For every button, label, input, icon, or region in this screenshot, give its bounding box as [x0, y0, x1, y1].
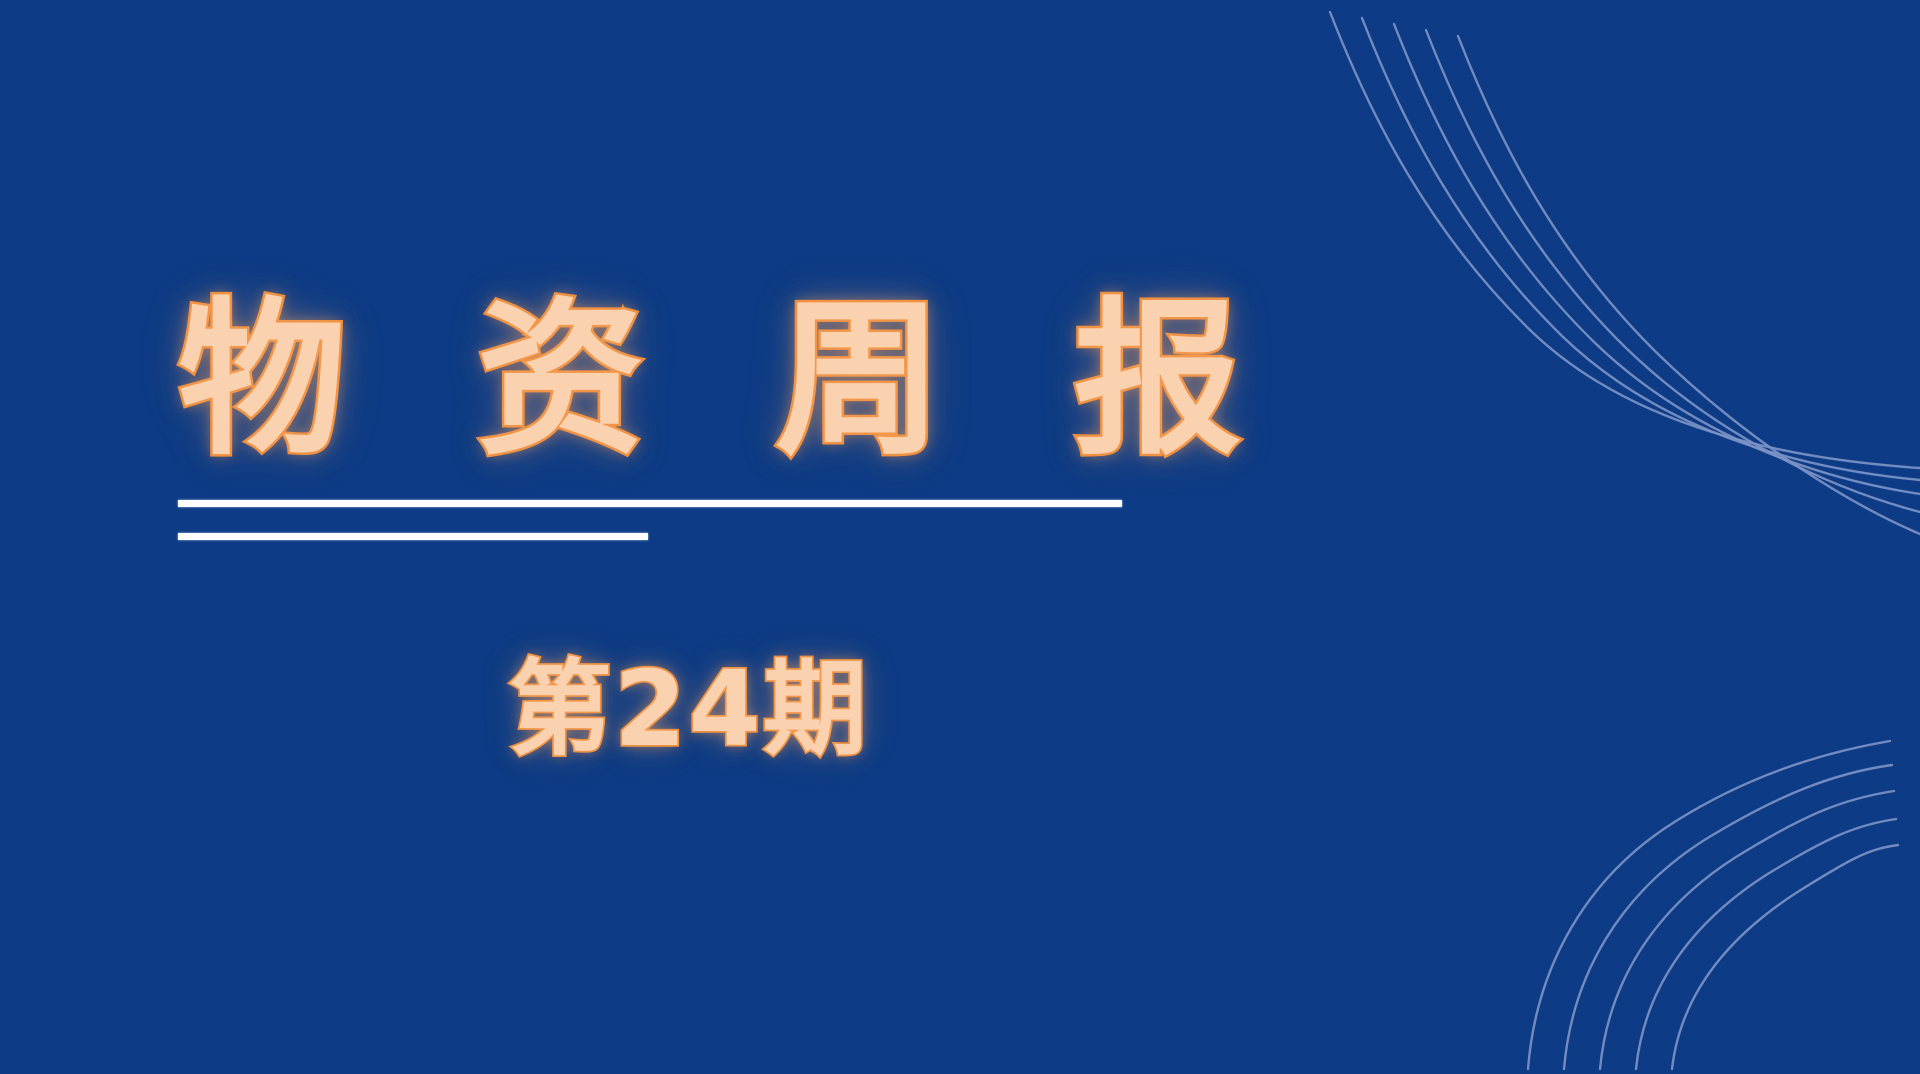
- arc-line: [1600, 791, 1894, 1069]
- wave-line: [1394, 24, 1920, 494]
- wave-line: [1426, 30, 1920, 512]
- top-right-wave-decoration: [1280, 0, 1920, 580]
- arc-line: [1528, 741, 1890, 1069]
- arc-line: [1672, 845, 1898, 1069]
- title-rule-short: [178, 533, 648, 540]
- issue-label: 第24期: [508, 655, 869, 764]
- wave-line: [1362, 18, 1920, 480]
- bottom-right-arc-decoration: [1490, 729, 1920, 1074]
- page-title: 物 资 周 报: [178, 296, 1278, 464]
- title-rule-long: [178, 500, 1122, 507]
- cover-slide: 物 资 周 报 第24期: [0, 0, 1920, 1074]
- title-block: 物 资 周 报: [178, 296, 1278, 464]
- arc-line: [1564, 765, 1892, 1069]
- arc-line: [1636, 819, 1896, 1069]
- wave-line: [1330, 12, 1920, 468]
- wave-line: [1458, 36, 1920, 534]
